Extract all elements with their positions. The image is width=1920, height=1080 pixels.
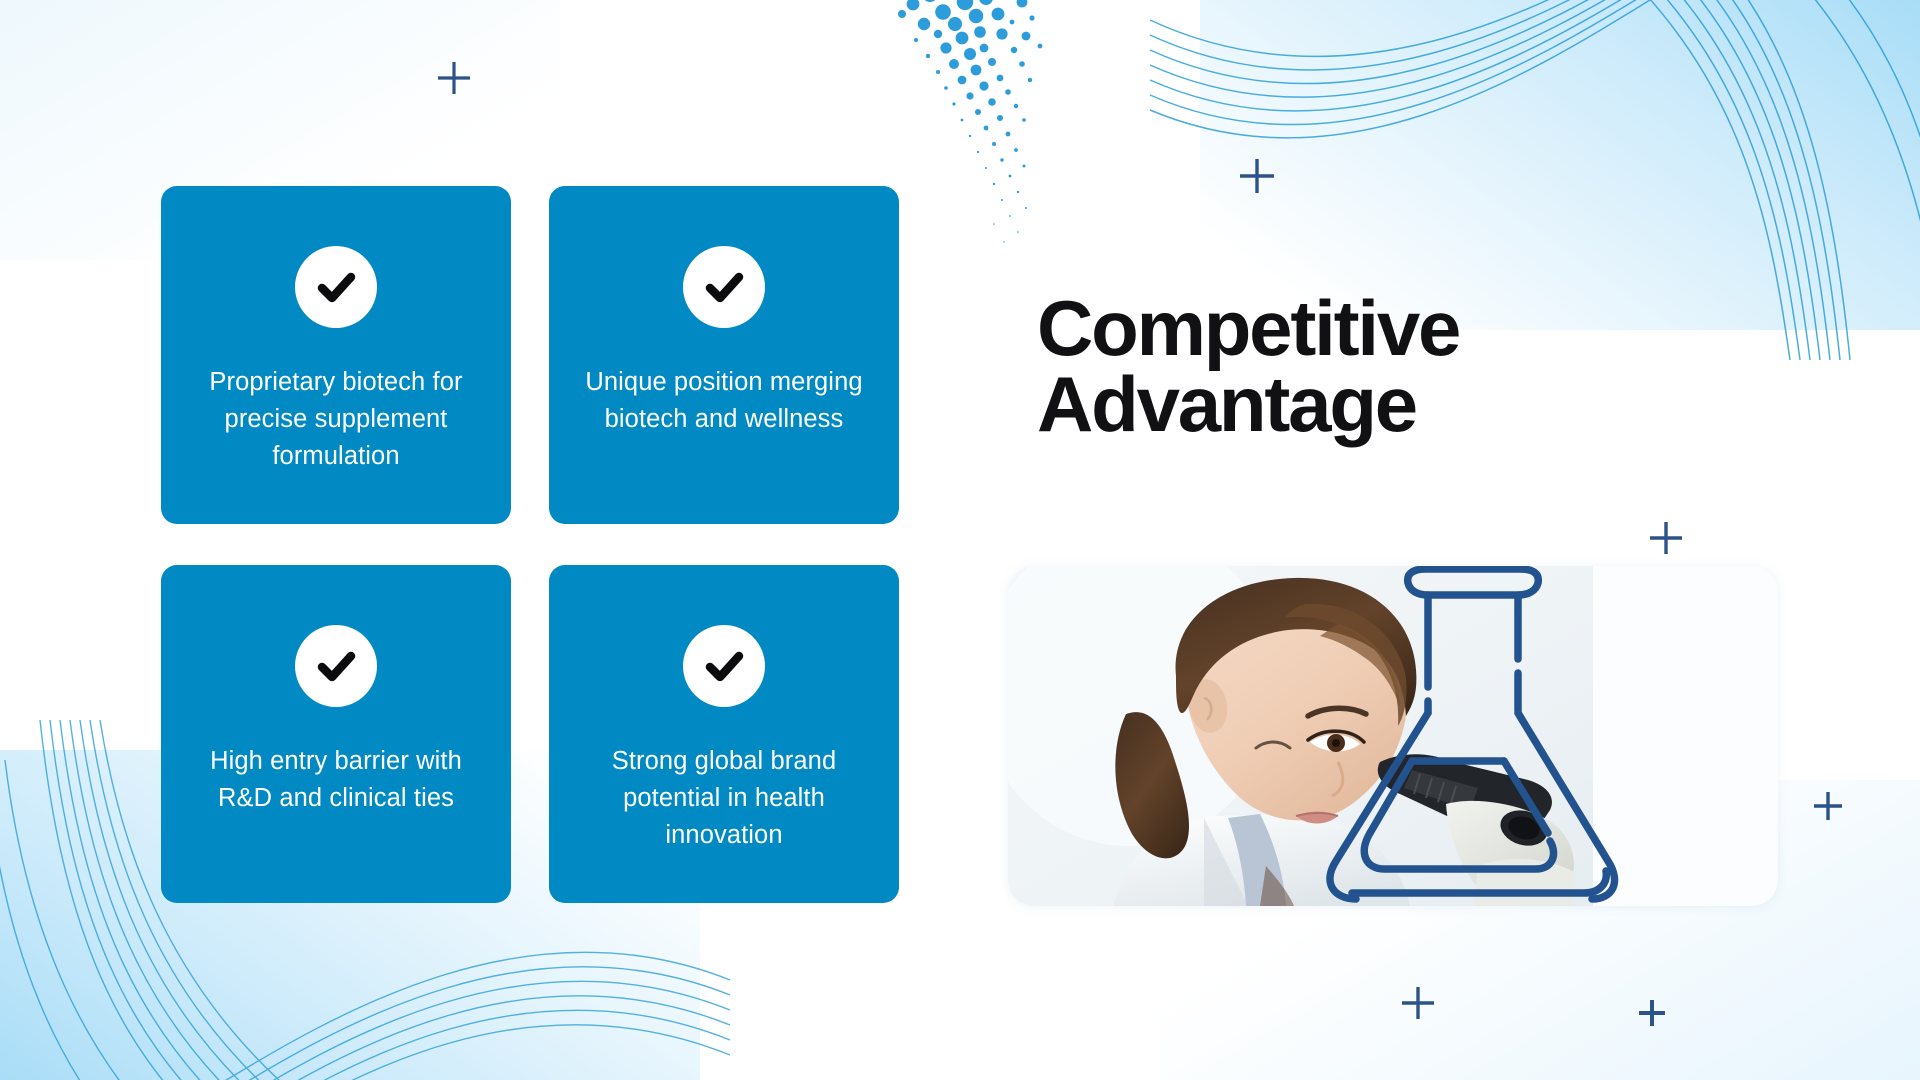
title-line-2: Advantage xyxy=(1037,366,1677,442)
plus-mark-icon xyxy=(1238,157,1276,195)
feature-card-text: Unique position merging biotech and well… xyxy=(574,364,874,438)
photo-illustration-panel xyxy=(1008,566,1778,906)
feature-card[interactable]: Strong global brand potential in health … xyxy=(549,565,899,903)
plus-mark-icon xyxy=(436,60,472,96)
page-title: Competitive Advantage xyxy=(1037,290,1677,443)
check-icon xyxy=(295,246,377,328)
feature-card[interactable]: Unique position merging biotech and well… xyxy=(549,186,899,524)
plus-mark-icon xyxy=(1648,520,1684,556)
feature-card-text: Proprietary biotech for precise suppleme… xyxy=(186,364,486,475)
plus-mark-icon xyxy=(1637,998,1667,1028)
feature-card[interactable]: Proprietary biotech for precise suppleme… xyxy=(161,186,511,524)
check-icon xyxy=(683,625,765,707)
halftone-dots-icon xyxy=(880,0,1140,302)
feature-card-text: High entry barrier with R&D and clinical… xyxy=(186,743,486,817)
plus-mark-icon xyxy=(1812,790,1844,822)
top-right-gradient-corner xyxy=(1200,0,1920,330)
background-decorations xyxy=(0,0,1920,1080)
check-icon xyxy=(295,625,377,707)
slide-canvas: Competitive Advantage Proprietary biotec… xyxy=(0,0,1920,1080)
check-icon xyxy=(683,246,765,328)
feature-card[interactable]: High entry barrier with R&D and clinical… xyxy=(161,565,511,903)
title-line-1: Competitive xyxy=(1037,290,1677,366)
feature-card-text: Strong global brand potential in health … xyxy=(574,743,874,854)
erlenmeyer-flask-icon xyxy=(1308,566,1638,906)
plus-mark-icon xyxy=(1400,985,1436,1021)
